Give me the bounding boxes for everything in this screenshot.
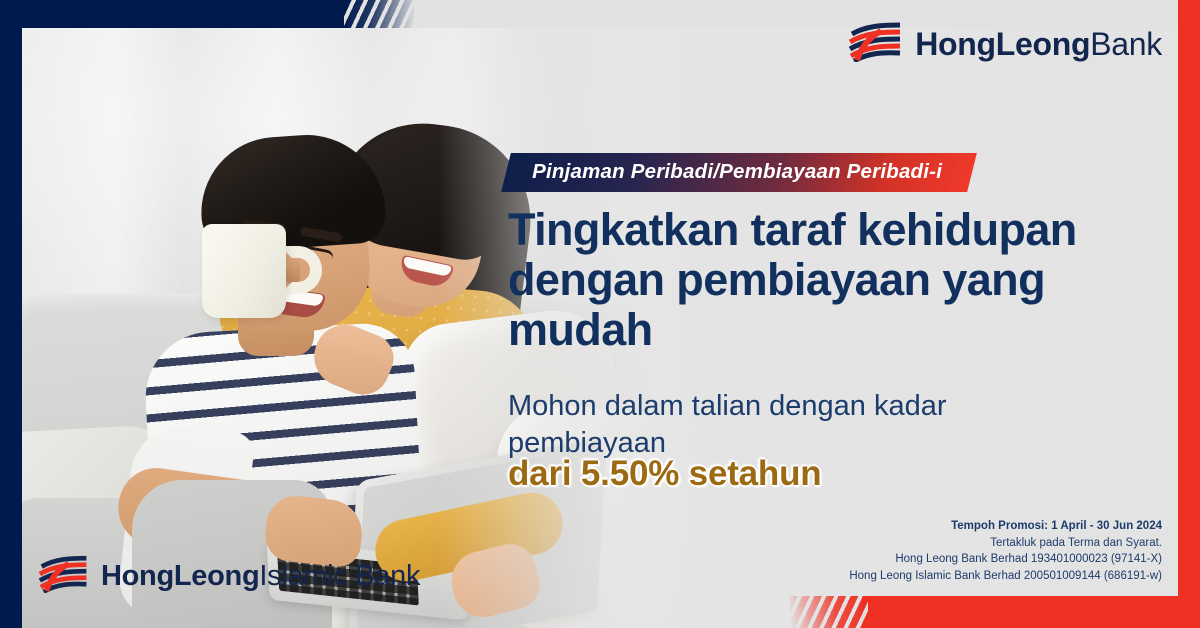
hong-leong-islamic-bank-logo[interactable]: HongLeongIslamic Bank	[38, 555, 420, 598]
logo-wordmark: HongLeongBank	[915, 26, 1162, 63]
fineprint-hlb-registration: Hong Leong Bank Berhad 193401000023 (971…	[849, 551, 1162, 568]
red-right-bar	[1178, 0, 1200, 628]
product-badge-shape: Pinjaman Peribadi/Pembiayaan Peribadi-i	[501, 153, 977, 192]
navy-diagonal-stripes	[344, 0, 414, 28]
navy-top-bar	[0, 0, 348, 28]
logo-bold-text: HongLeong	[101, 560, 259, 592]
logo-wordmark: HongLeongIslamic Bank	[101, 560, 420, 593]
hong-leong-stripes-icon	[848, 22, 906, 67]
product-badge-label: Pinjaman Peribadi/Pembiayaan Peribadi-i	[532, 160, 942, 184]
logo-bold-text: HongLeong	[915, 26, 1090, 62]
logo-light-text: Islamic Bank	[259, 560, 420, 592]
headline: Tingkatkan taraf kehidupan dengan pembia…	[508, 205, 1168, 355]
red-bottom-bar	[862, 596, 1200, 628]
fineprint-promo-period: Tempoh Promosi: 1 April - 30 Jun 2024	[849, 518, 1162, 535]
fineprint-hlisb-registration: Hong Leong Islamic Bank Berhad 200501009…	[849, 568, 1162, 585]
logo-light-text: Bank	[1090, 26, 1162, 62]
hong-leong-bank-logo[interactable]: HongLeongBank	[848, 22, 1162, 67]
navy-left-bar	[0, 0, 22, 628]
hong-leong-stripes-icon	[38, 555, 92, 598]
fineprint-terms: Tertakluk pada Terma dan Syarat.	[849, 535, 1162, 552]
product-badge: Pinjaman Peribadi/Pembiayaan Peribadi-i	[506, 153, 972, 192]
promotional-banner: HongLeongBank Pinjaman Peribadi/Pembiaya…	[0, 0, 1200, 628]
red-diagonal-stripes	[790, 596, 868, 628]
fineprint-block: Tempoh Promosi: 1 April - 30 Jun 2024 Te…	[849, 518, 1162, 584]
rate-highlight: dari 5.50% setahun	[508, 454, 821, 494]
subheadline: Mohon dalam talian dengan kadar pembiaya…	[508, 388, 1008, 462]
